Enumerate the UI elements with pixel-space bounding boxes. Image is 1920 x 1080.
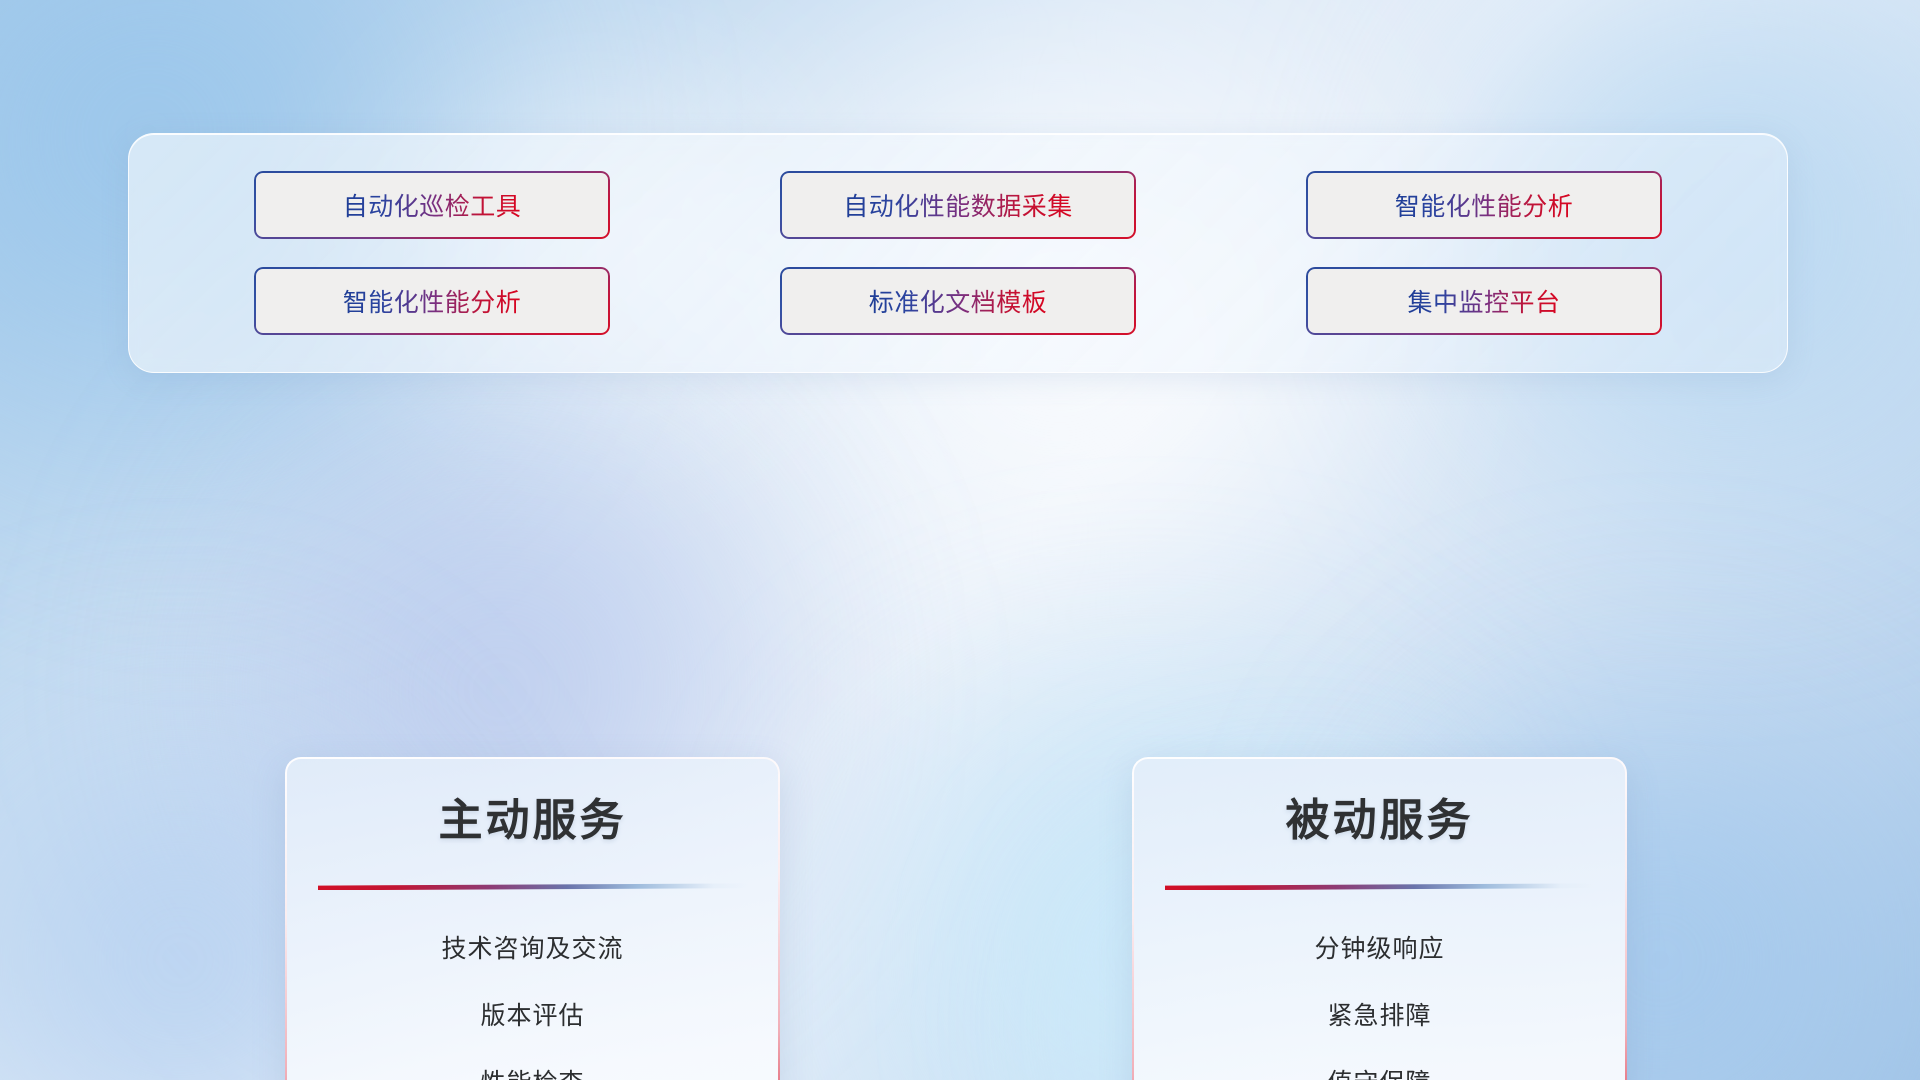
capability-tag-1[interactable]: 自动化巡检工具 <box>254 171 610 239</box>
capability-tag-label: 自动化巡检工具 <box>343 187 522 223</box>
capability-tag-6[interactable]: 集中监控平台 <box>1306 267 1662 335</box>
active-service-title: 主动服务 <box>315 797 750 845</box>
capability-tag-label: 自动化性能数据采集 <box>843 187 1073 223</box>
list-item[interactable]: 紧急排障 <box>1162 983 1597 1050</box>
passive-service-item-list: 分钟级响应 紧急排障 值守保障 问题诊断解决 SLA式服务 <box>1162 916 1597 1080</box>
capability-tag-4[interactable]: 智能化性能分析 <box>254 267 610 335</box>
list-item[interactable]: 版本评估 <box>315 983 750 1050</box>
capability-panel: 自动化巡检工具 自动化性能数据采集 智能化性能分析 智能化性能分析 标准化文档模… <box>128 133 1788 373</box>
capability-tag-label: 集中监控平台 <box>1407 283 1560 319</box>
list-item[interactable]: 值守保障 <box>1162 1050 1597 1080</box>
capability-tag-label: 智能化性能分析 <box>343 283 522 319</box>
passive-service-card-body: 被动服务 分钟级响应 紧急排障 值守保障 问题诊断解决 SLA式服务 <box>1132 757 1627 1080</box>
list-item[interactable]: 性能检查 <box>315 1050 750 1080</box>
passive-service-card: 被动服务 分钟级响应 紧急排障 值守保障 问题诊断解决 SLA式服务 <box>1132 757 1627 1080</box>
active-service-card-body: 主动服务 技术咨询及交流 版本评估 性能检查 自动化监控与告警 健康巡检 <box>285 757 780 1080</box>
passive-service-title: 被动服务 <box>1162 797 1597 845</box>
capability-tag-5[interactable]: 标准化文档模板 <box>780 267 1136 335</box>
capability-tag-2[interactable]: 自动化性能数据采集 <box>780 171 1136 239</box>
title-divider <box>318 883 748 890</box>
active-service-item-list: 技术咨询及交流 版本评估 性能检查 自动化监控与告警 健康巡检 <box>315 916 750 1080</box>
capability-tag-label: 智能化性能分析 <box>1395 187 1574 223</box>
list-item[interactable]: 技术咨询及交流 <box>315 916 750 983</box>
active-service-card: 主动服务 技术咨询及交流 版本评估 性能检查 自动化监控与告警 健康巡检 <box>285 757 780 1080</box>
list-item[interactable]: 分钟级响应 <box>1162 916 1597 983</box>
capability-tag-label: 标准化文档模板 <box>869 283 1048 319</box>
title-divider <box>1165 883 1595 890</box>
capability-tag-3[interactable]: 智能化性能分析 <box>1306 171 1662 239</box>
